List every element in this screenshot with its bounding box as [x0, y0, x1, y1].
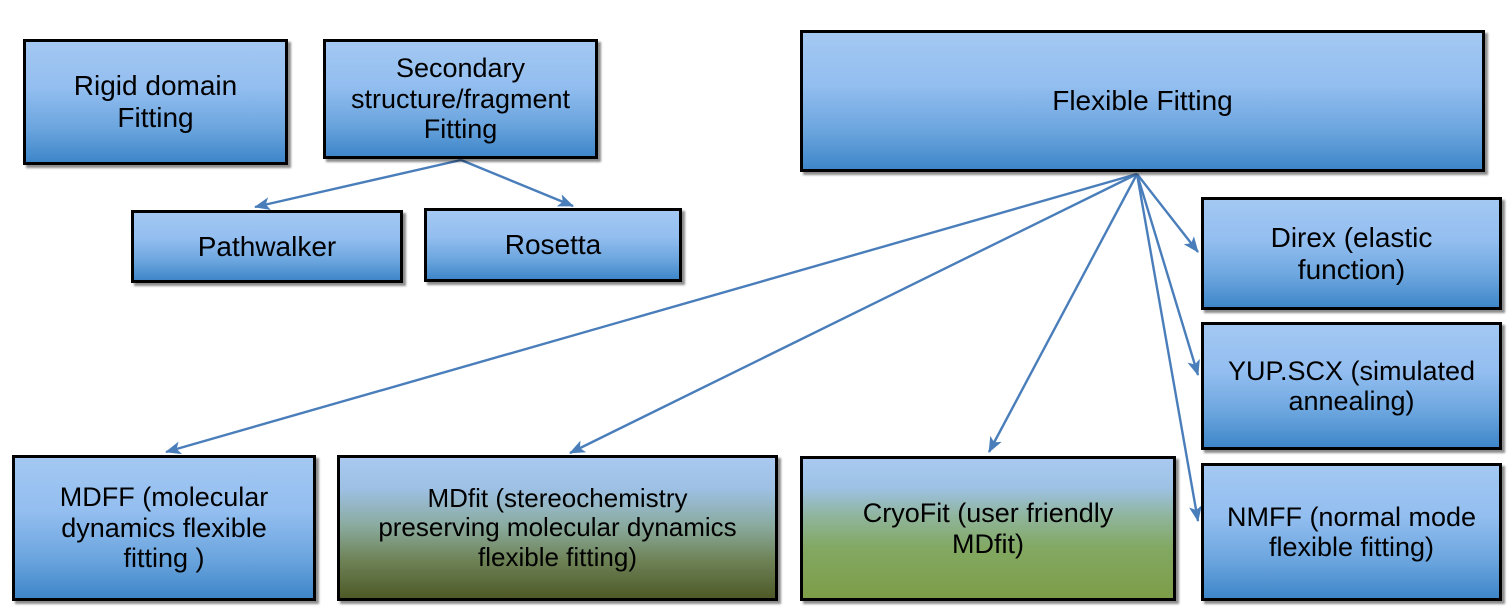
node-label-cryofit: CryoFit (user friendlyMDfit) — [811, 498, 1165, 559]
node-mdfit[interactable]: MDfit (stereochemistrypreserving molecul… — [337, 455, 778, 601]
node-rigid-domain-fitting[interactable]: Rigid domainFitting — [23, 39, 288, 165]
node-flexible-fitting[interactable]: Flexible Fitting — [800, 30, 1485, 172]
node-yup-scx[interactable]: YUP.SCX (simulatedannealing) — [1201, 322, 1502, 450]
node-label-direx: Direx (elasticfunction) — [1212, 222, 1491, 285]
node-label-rigid-domain-fitting: Rigid domainFitting — [34, 70, 277, 133]
node-nmff[interactable]: NMFF (normal modeflexible fitting) — [1201, 463, 1502, 601]
node-label-mdfit: MDfit (stereochemistrypreserving molecul… — [348, 484, 767, 572]
arrow-secondary-to-pathwalker — [255, 160, 461, 207]
node-label-pathwalker: Pathwalker — [142, 231, 392, 263]
node-label-rosetta: Rosetta — [435, 229, 671, 261]
node-rosetta[interactable]: Rosetta — [424, 208, 682, 282]
diagram-canvas: Rigid domainFittingSecondarystructure/fr… — [0, 0, 1512, 610]
node-label-secondary-structure-fragment-fitting: Secondarystructure/fragmentFitting — [334, 53, 587, 145]
arrow-secondary-to-rosetta — [461, 160, 573, 206]
node-pathwalker[interactable]: Pathwalker — [131, 210, 403, 283]
arrow-flexible-to-cryofit — [989, 174, 1137, 452]
node-secondary-structure-fragment-fitting[interactable]: Secondarystructure/fragmentFitting — [323, 39, 598, 159]
node-label-yup-scx: YUP.SCX (simulatedannealing) — [1212, 356, 1491, 417]
node-label-flexible-fitting: Flexible Fitting — [811, 85, 1474, 117]
arrow-flexible-to-direx — [1137, 174, 1198, 252]
arrow-flexible-to-yupscx — [1137, 174, 1198, 375]
node-direx[interactable]: Direx (elasticfunction) — [1201, 197, 1502, 310]
node-label-nmff: NMFF (normal modeflexible fitting) — [1212, 502, 1491, 563]
node-cryofit[interactable]: CryoFit (user friendlyMDfit) — [800, 456, 1176, 601]
node-label-mdff: MDFF (moleculardynamics flexiblefitting … — [23, 482, 305, 574]
node-mdff[interactable]: MDFF (moleculardynamics flexiblefitting … — [12, 455, 316, 601]
